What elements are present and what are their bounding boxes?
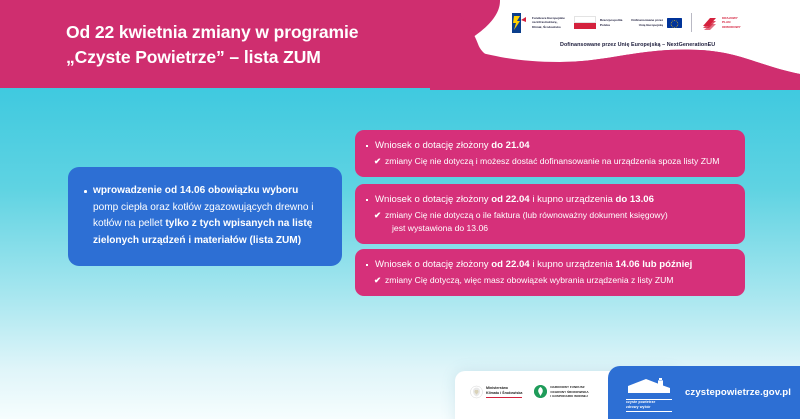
title-line-2: „Czyste Powietrze” – lista ZUM <box>66 45 496 70</box>
kpo-label: KRAJOWY PLAN ODBUDOWY <box>722 16 741 29</box>
polish-flag-icon <box>574 16 596 29</box>
ministerstwo-klimatu-logo: Ministerstwo Klimatu i Środowiska <box>470 385 522 399</box>
nfosigw-logo: NARODOWY FUNDUSZ OCHRONY ŚRODOWISKA I GO… <box>534 385 588 398</box>
head-seg-2: do 21.04 <box>491 140 529 151</box>
case-card-outcome-cont: jest wystawiona do 13.06 <box>366 222 733 235</box>
case-card-heading: Wniosek o dotację złożony do 21.04 <box>366 139 733 153</box>
head-seg-4: do 13.06 <box>616 194 654 205</box>
zum-obligation-item: wprowadzenie od 14.06 obowiązku wyboru p… <box>83 183 325 250</box>
case-card-before-21-04: Wniosek o dotację złożony do 21.04 ✔zmia… <box>355 130 745 177</box>
fundusze-europejskie-logo: Fundusze Europejskie na Infrastrukturę, … <box>512 10 565 36</box>
eu-flag-logo: Dofinansowane przez Unię Europejską <box>631 10 682 36</box>
footer-institution-logos: Ministerstwo Klimatu i Środowiska NARODO… <box>470 381 589 403</box>
eu-funding-label: Dofinansowane przez Unię Europejską <box>631 18 663 27</box>
nfosigw-tree-icon <box>534 385 547 398</box>
outcome-text: zmiany Cię nie dotyczą o ile faktura (lu… <box>385 210 668 220</box>
eu-flag-icon <box>667 18 682 28</box>
head-seg-1: Wniosek o dotację złożony <box>375 194 491 205</box>
case-card-14-06-or-later: Wniosek o dotację złożony od 22.04 i kup… <box>355 249 745 296</box>
funding-note: Dofinansowane przez Unię Europejską – Ne… <box>560 42 715 48</box>
rzeczpospolita-label: Rzeczpospolita Polska <box>600 18 623 27</box>
page-title: Od 22 kwietnia zmiany w programie „Czyst… <box>66 20 496 70</box>
house-icon <box>626 378 672 393</box>
logo-divider <box>691 13 692 32</box>
head-seg-4: 14.06 lub później <box>616 259 693 270</box>
head-seg-3: i kupno urządzenia <box>530 259 616 270</box>
check-icon: ✔ <box>374 209 381 222</box>
website-url[interactable]: czystepowietrze.gov.pl <box>685 387 791 398</box>
head-seg-2: od 22.04 <box>491 259 529 270</box>
ministerstwo-klimatu-label: Ministerstwo Klimatu i Środowiska <box>486 386 522 398</box>
outcome-text: zmiany Cię nie dotyczą i możesz dostać d… <box>385 156 719 166</box>
fundusze-europejskie-icon <box>512 13 528 33</box>
eu-funding-logo-strip: Fundusze Europejskie na Infrastrukturę, … <box>512 9 741 36</box>
case-card-22-04-to-13-06: Wniosek o dotację złożony od 22.04 i kup… <box>355 184 745 244</box>
case-card-outcome: ✔zmiany Cię nie dotyczą o ile faktura (l… <box>366 209 733 222</box>
title-line-1: Od 22 kwietnia zmiany w programie <box>66 20 496 45</box>
check-icon: ✔ <box>374 274 381 287</box>
czyste-powietrze-logo: czyste powietrze zdrowy wybór <box>626 378 672 408</box>
zum-seg-1: wprowadzenie od 14.06 obowiązku wyboru <box>93 185 298 196</box>
head-seg-1: Wniosek o dotację złożony <box>375 140 491 151</box>
krajowy-plan-odbudowy-logo: KRAJOWY PLAN ODBUDOWY <box>701 10 741 36</box>
case-card-outcome: ✔zmiany Cię nie dotyczą i możesz dostać … <box>366 155 733 168</box>
check-icon: ✔ <box>374 155 381 168</box>
outcome-text: zmiany Cię dotyczą, więc masz obowiązek … <box>385 275 673 285</box>
czyste-powietrze-wordmark: czyste powietrze zdrowy wybór <box>626 399 672 412</box>
case-card-outcome: ✔zmiany Cię dotyczą, więc masz obowiązek… <box>366 274 733 287</box>
polish-eagle-icon <box>470 385 483 399</box>
rzeczpospolita-polska-logo: Rzeczpospolita Polska <box>574 10 623 36</box>
case-card-heading: Wniosek o dotację złożony od 22.04 i kup… <box>366 258 733 272</box>
footer-brand-bar: czyste powietrze zdrowy wybór czystepowi… <box>608 366 800 419</box>
head-seg-3: i kupno urządzenia <box>530 194 616 205</box>
case-card-heading: Wniosek o dotację złożony od 22.04 i kup… <box>366 193 733 207</box>
head-seg-1: Wniosek o dotację złożony <box>375 259 491 270</box>
zum-obligation-card: wprowadzenie od 14.06 obowiązku wyboru p… <box>68 167 342 266</box>
head-seg-2: od 22.04 <box>491 194 529 205</box>
kpo-icon <box>701 14 718 31</box>
infographic-canvas: Od 22 kwietnia zmiany w programie „Czyst… <box>0 0 800 419</box>
fundusze-europejskie-label: Fundusze Europejskie na Infrastrukturę, … <box>532 16 565 29</box>
ministerstwo-rule <box>486 397 522 398</box>
nfosigw-label: NARODOWY FUNDUSZ OCHRONY ŚRODOWISKA I GO… <box>550 385 588 398</box>
